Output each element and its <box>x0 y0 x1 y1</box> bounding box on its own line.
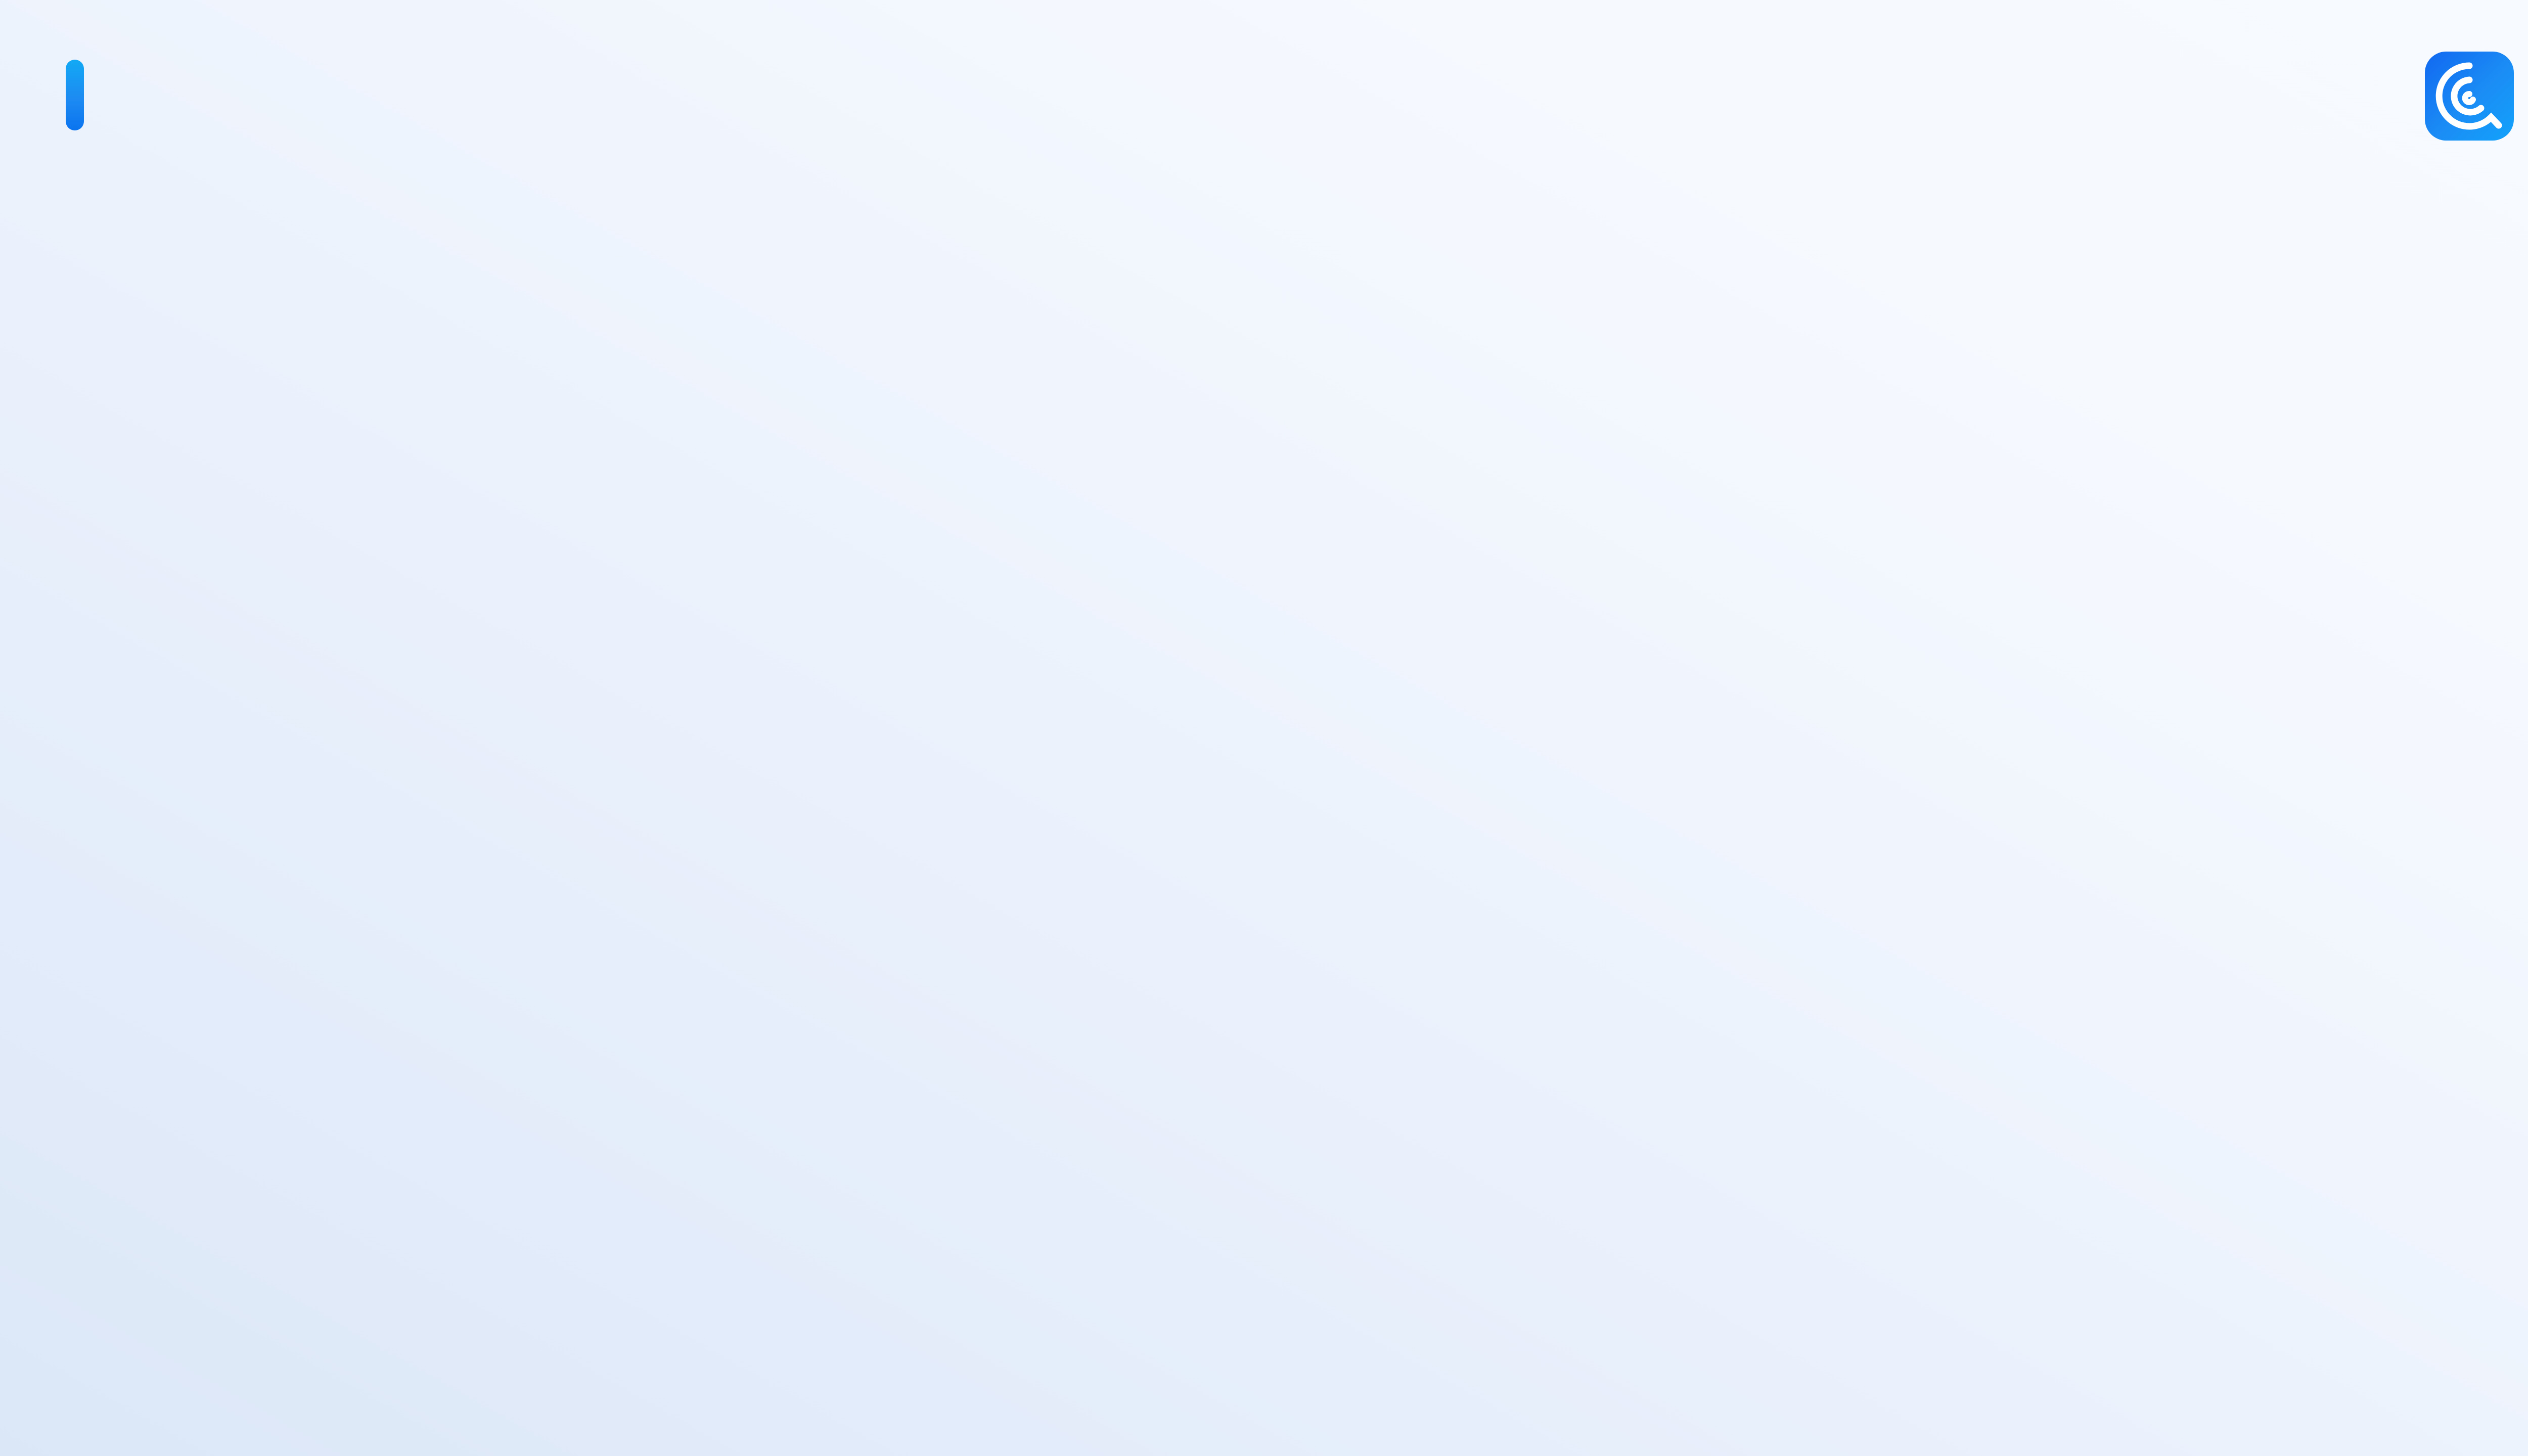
poster-root <box>0 0 2528 1456</box>
brand-logo <box>2425 45 2528 147</box>
header <box>0 0 2528 192</box>
qcc-spiral-q-icon <box>2425 52 2514 141</box>
header-accent-bar <box>66 60 84 130</box>
footer-notes <box>70 1230 2527 1243</box>
